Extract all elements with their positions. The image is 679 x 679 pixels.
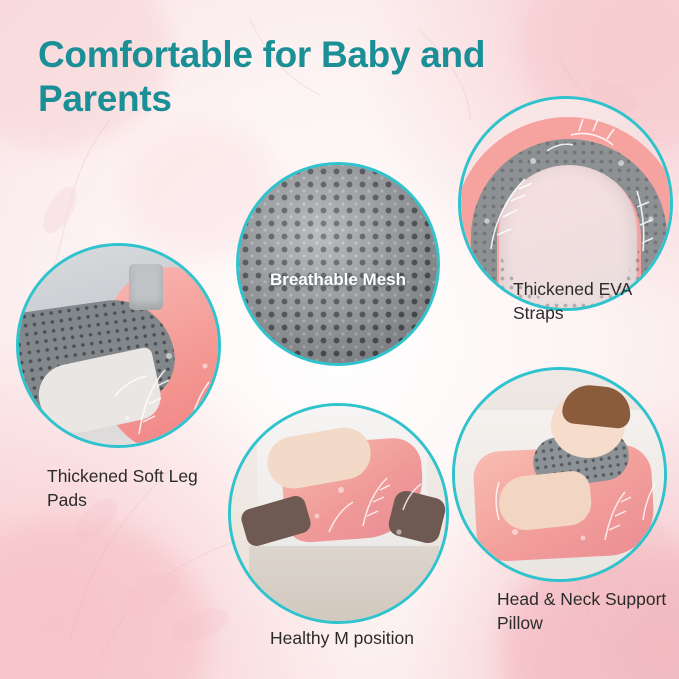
- head-support-photo: [455, 370, 664, 579]
- head-support-floral-pattern: [455, 370, 667, 582]
- feature-image-breathable-mesh: Breathable Mesh: [236, 162, 440, 366]
- feature-caption-thickened-soft-leg-pads: Thickened Soft Leg Pads: [47, 464, 227, 512]
- feature-image-thickened-soft-leg-pads: [16, 243, 221, 448]
- feature-caption-head-neck-support-pillow: Head & Neck Support Pillow: [497, 587, 672, 635]
- feature-label-breathable-mesh: Breathable Mesh: [239, 268, 437, 293]
- product-feature-poster: Comfortable for Baby and Parents Breatha…: [0, 0, 679, 679]
- feature-image-healthy-m-position: [228, 403, 449, 624]
- leg-pads-photo: [19, 246, 218, 445]
- poster-heading: Comfortable for Baby and Parents: [38, 33, 508, 120]
- mesh-photo: [239, 165, 437, 363]
- background-blob-bottom-left: [0, 520, 210, 679]
- feature-caption-thickened-eva-straps: Thickened EVA Straps: [513, 277, 673, 325]
- m-position-floral-pattern: [231, 406, 449, 624]
- leg-pads-floral-pattern: [19, 246, 221, 448]
- feature-image-head-neck-support-pillow: [452, 367, 667, 582]
- feature-caption-healthy-m-position: Healthy M position: [232, 626, 452, 650]
- m-position-photo: [231, 406, 446, 621]
- mesh-shading: [239, 165, 437, 363]
